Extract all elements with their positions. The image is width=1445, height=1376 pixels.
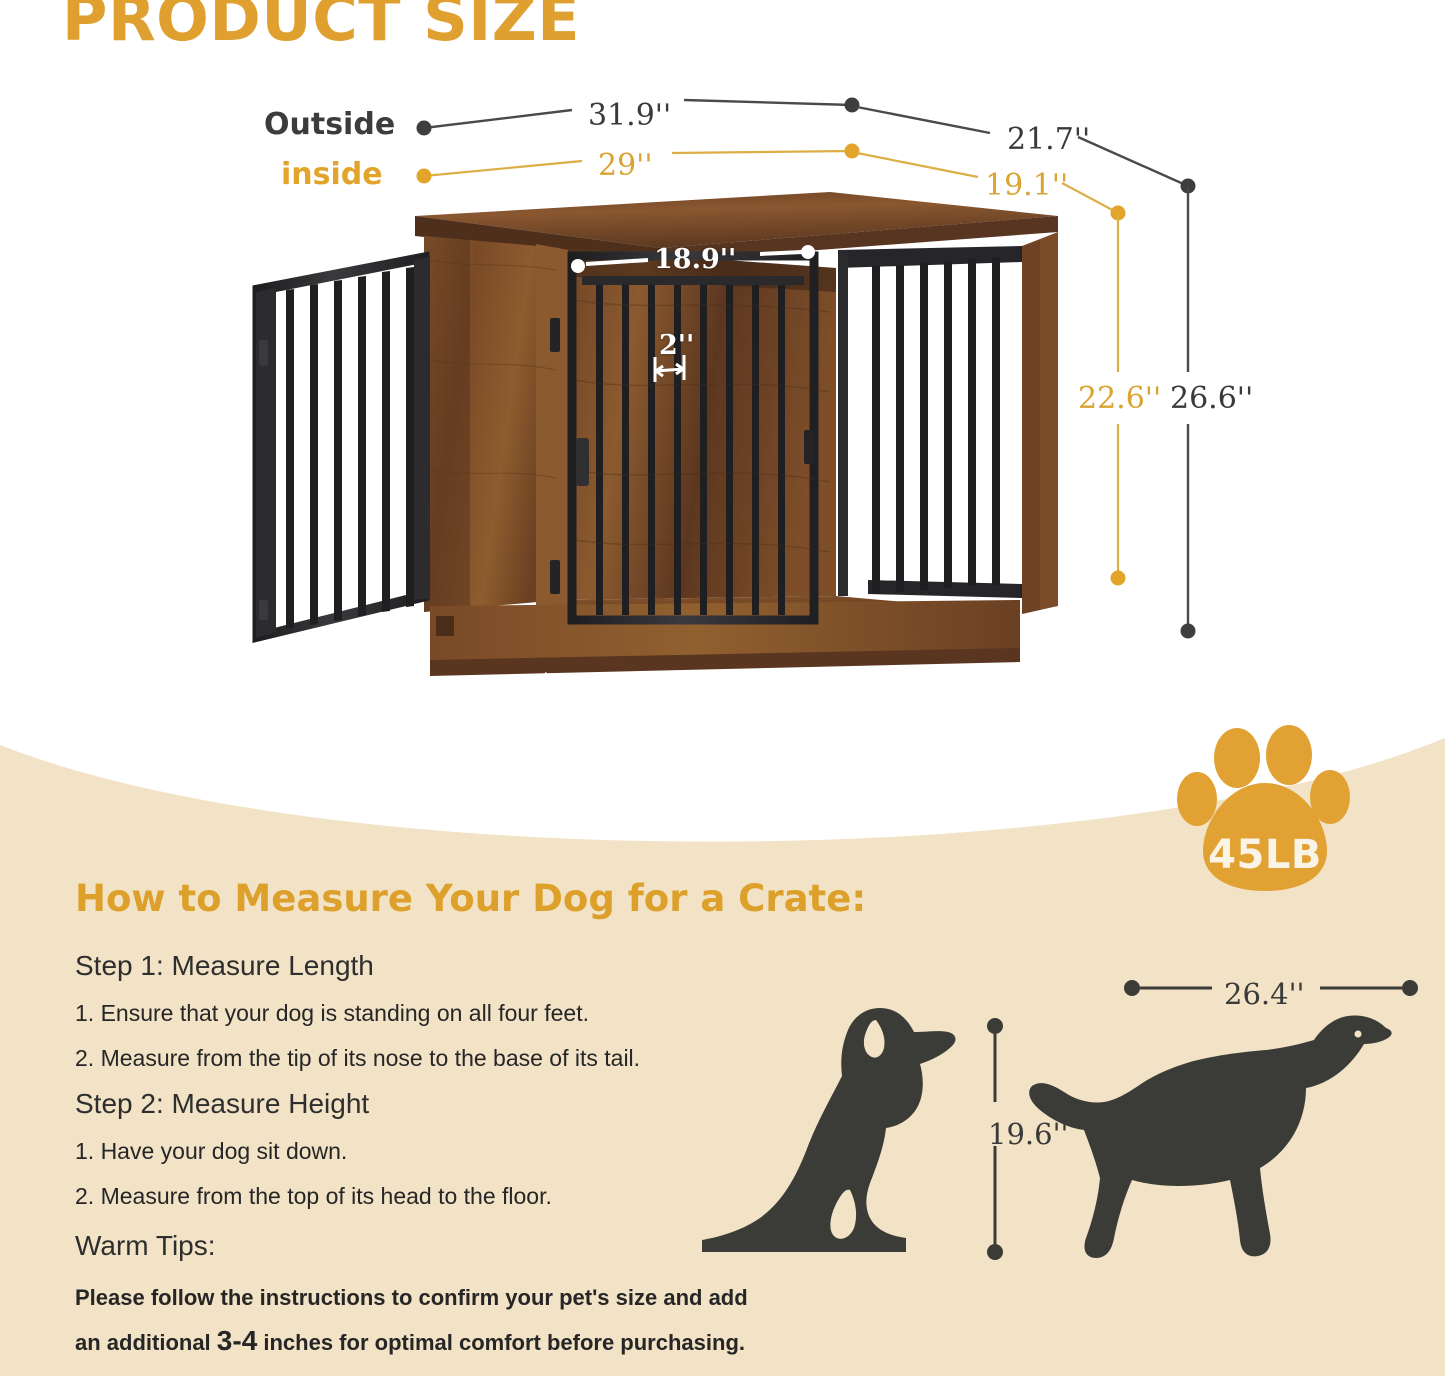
step-1-line-1: 1. Ensure that your dog is standing on a… bbox=[75, 1000, 589, 1027]
dog-measurement-diagram bbox=[700, 950, 1445, 1310]
dog-standing-silhouette bbox=[1029, 1016, 1404, 1259]
step-2-title: Step 2: Measure Height bbox=[75, 1088, 369, 1120]
legend-outside-label: Outside bbox=[264, 107, 395, 142]
warm-tips-line-2: an additional 3-4 inches for optimal com… bbox=[75, 1325, 745, 1357]
crate-open-door bbox=[256, 257, 430, 638]
warm-tips-pre: an additional bbox=[75, 1330, 217, 1355]
product-illustration bbox=[0, 0, 1445, 720]
step-2-line-1: 1. Have your dog sit down. bbox=[75, 1138, 347, 1165]
warm-tips-line-1: Please follow the instructions to confir… bbox=[75, 1285, 748, 1311]
warm-tips-title: Warm Tips: bbox=[75, 1230, 216, 1262]
instructions-heading: How to Measure Your Dog for a Crate: bbox=[75, 877, 866, 920]
step-2-line-2: 2. Measure from the top of its head to t… bbox=[75, 1183, 552, 1210]
dimension-bar-spacing-label: 2'' bbox=[659, 330, 694, 361]
weight-capacity-badge: 45LB bbox=[1175, 832, 1355, 878]
step-1-line-2: 2. Measure from the tip of its nose to t… bbox=[75, 1045, 640, 1072]
dimension-inside-width: 29'' bbox=[598, 148, 653, 183]
dimension-inside-height: 22.6'' bbox=[1078, 381, 1161, 416]
dimension-dog-height-label: 19.6'' bbox=[988, 1117, 1069, 1151]
step-1-title: Step 1: Measure Length bbox=[75, 950, 374, 982]
legend-inside-label: inside bbox=[281, 157, 383, 192]
dimension-inside-depth: 19.1'' bbox=[985, 168, 1068, 203]
infographic-page: PRODUCT SIZE bbox=[0, 0, 1445, 1376]
dimension-outside-height: 26.6'' bbox=[1170, 381, 1253, 416]
dimension-outside-width: 31.9'' bbox=[588, 98, 671, 133]
warm-tips-post: inches for optimal comfort before purcha… bbox=[257, 1330, 745, 1355]
dog-sitting-silhouette bbox=[702, 1008, 955, 1252]
dimension-dog-length-label: 26.4'' bbox=[1224, 977, 1305, 1011]
dimension-outside-depth: 21.7'' bbox=[1007, 122, 1090, 157]
warm-tips-emphasis: 3-4 bbox=[217, 1325, 257, 1356]
dimension-door-width-label: 18.9'' bbox=[654, 244, 736, 275]
